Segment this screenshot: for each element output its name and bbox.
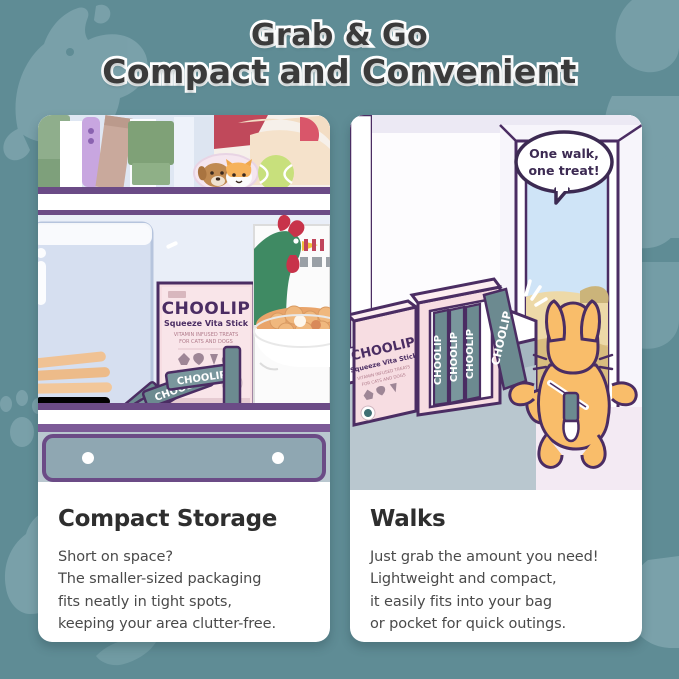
card-walks[interactable]: One walk, one treat! bbox=[350, 115, 642, 642]
card-body: Just grab the amount you need! Lightweig… bbox=[370, 546, 622, 636]
headline-line-2: Compact and Convenient bbox=[0, 55, 679, 90]
illustration-hallway-doorway: One walk, one treat! bbox=[350, 115, 642, 490]
caption-walks: Walks Just grab the amount you need! Lig… bbox=[350, 490, 642, 636]
card-title: Walks bbox=[370, 506, 622, 532]
svg-text:CHOOLIP: CHOOLIP bbox=[465, 329, 476, 379]
svg-text:FOR CATS AND DOGS: FOR CATS AND DOGS bbox=[179, 339, 233, 345]
page-title: Grab & Go Compact and Convenient bbox=[0, 20, 679, 90]
poster: Grab & Go Compact and Convenient bbox=[0, 0, 679, 679]
card-title: Compact Storage bbox=[58, 506, 310, 532]
caption-compact-storage: Compact Storage Short on space? The smal… bbox=[38, 490, 330, 636]
svg-text:One walk,: One walk, bbox=[529, 146, 599, 161]
svg-text:CHOOLIP: CHOOLIP bbox=[433, 335, 444, 385]
svg-text:Squeeze Vita Stick: Squeeze Vita Stick bbox=[164, 319, 249, 328]
svg-text:one treat!: one treat! bbox=[528, 163, 599, 178]
illustration-refrigerator-shelf: CHOOLIP Squeeze Vita Stick VITAMIN INFUS… bbox=[38, 115, 330, 490]
card-compact-storage[interactable]: CHOOLIP Squeeze Vita Stick VITAMIN INFUS… bbox=[38, 115, 330, 642]
svg-text:CHOOLIP: CHOOLIP bbox=[449, 332, 460, 382]
headline-line-1: Grab & Go bbox=[0, 20, 679, 52]
card-body: Short on space? The smaller-sized packag… bbox=[58, 546, 310, 636]
svg-text:VITAMIN INFUSED TREATS: VITAMIN INFUSED TREATS bbox=[174, 332, 239, 338]
svg-text:CHOOLIP: CHOOLIP bbox=[162, 299, 251, 319]
